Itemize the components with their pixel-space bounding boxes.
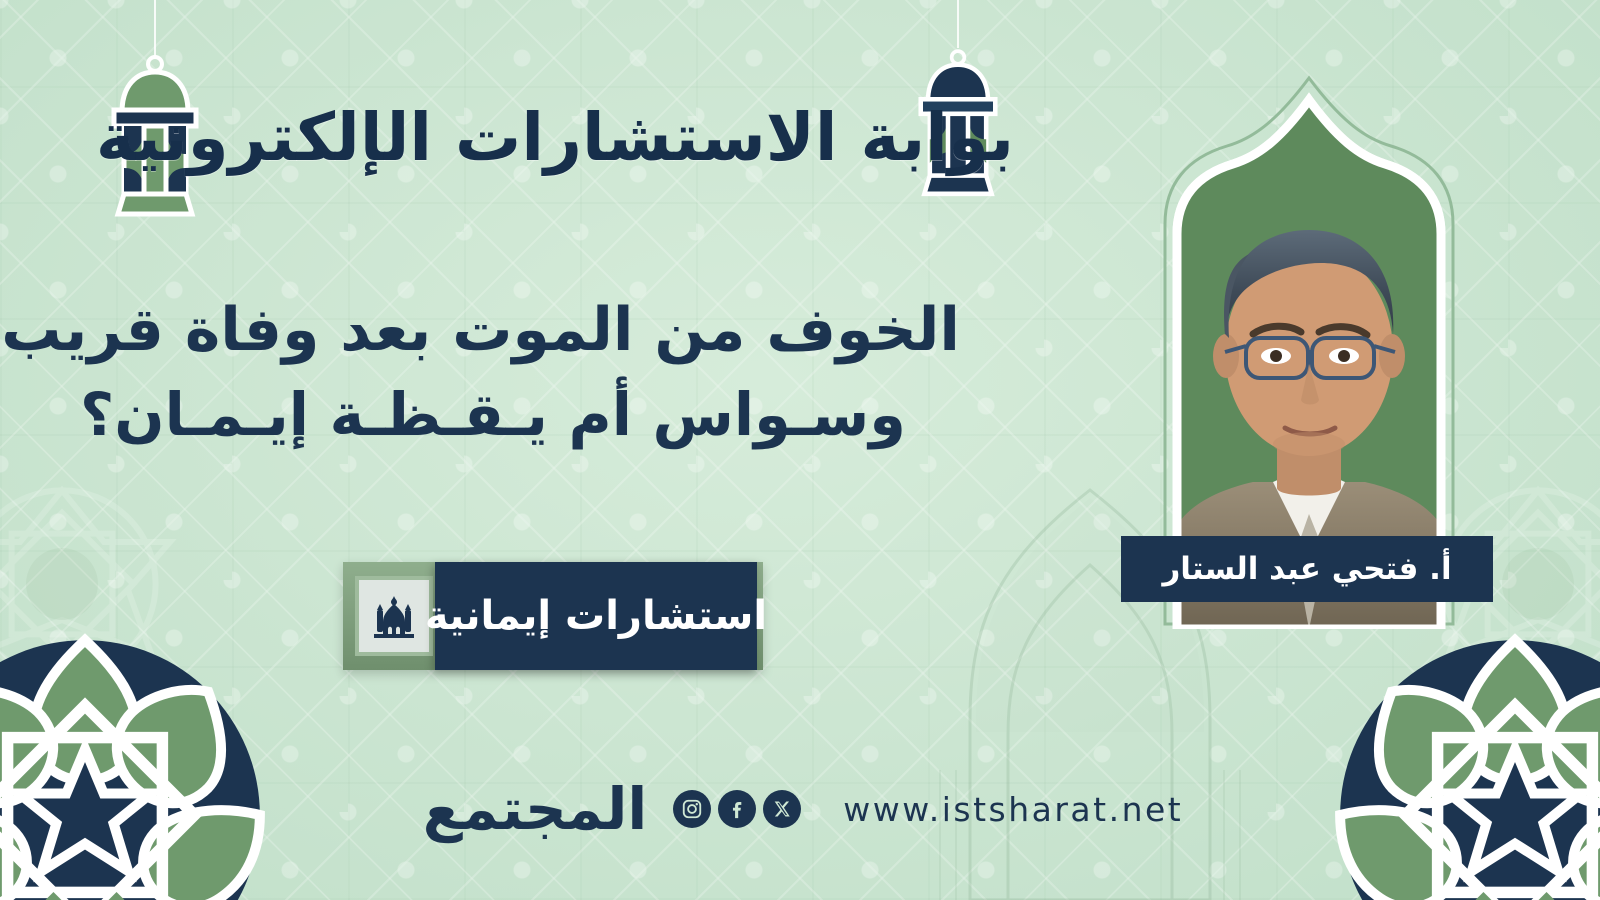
facebook-icon[interactable] [718, 790, 756, 828]
islamic-rosette-left [0, 600, 300, 900]
website-url[interactable]: www.istsharat.net [843, 790, 1183, 829]
portal-title-calligraphy: بوابة الاستشارات الإلكترونية [205, 72, 905, 202]
mosque-icon [368, 590, 420, 642]
instagram-glyph [681, 798, 703, 820]
brand-logo: المجتمع [423, 780, 648, 838]
facebook-glyph [726, 798, 748, 820]
badge-label: استشارات إيمانية [425, 593, 767, 639]
footer-bar: المجتمع www.istsharat.net [0, 780, 1600, 838]
badge-icon-tile [355, 576, 433, 656]
x-glyph [772, 799, 792, 819]
badge-banner: استشارات إيمانية [435, 562, 757, 670]
title-line-1: الخوف من الموت بعد وفاة قريب.. [80, 288, 960, 373]
instagram-icon[interactable] [673, 790, 711, 828]
section-badge: استشارات إيمانية [343, 562, 763, 674]
title-line-2: وسـواس أم يـقـظـة إيـمـان؟ [80, 373, 960, 457]
social-links [673, 790, 801, 828]
x-icon[interactable] [763, 790, 801, 828]
main-title: الخوف من الموت بعد وفاة قريب.. وسـواس أم… [80, 288, 960, 457]
poster-canvas: بوابة الاستشارات الإلكترونية الخوف من ال… [0, 0, 1600, 900]
speaker-nameplate: أ. فتحي عبد الستار [1121, 536, 1493, 602]
speaker-name: أ. فتحي عبد الستار [1162, 551, 1451, 587]
lantern-cord [957, 0, 959, 48]
islamic-rosette-right [1300, 600, 1600, 900]
